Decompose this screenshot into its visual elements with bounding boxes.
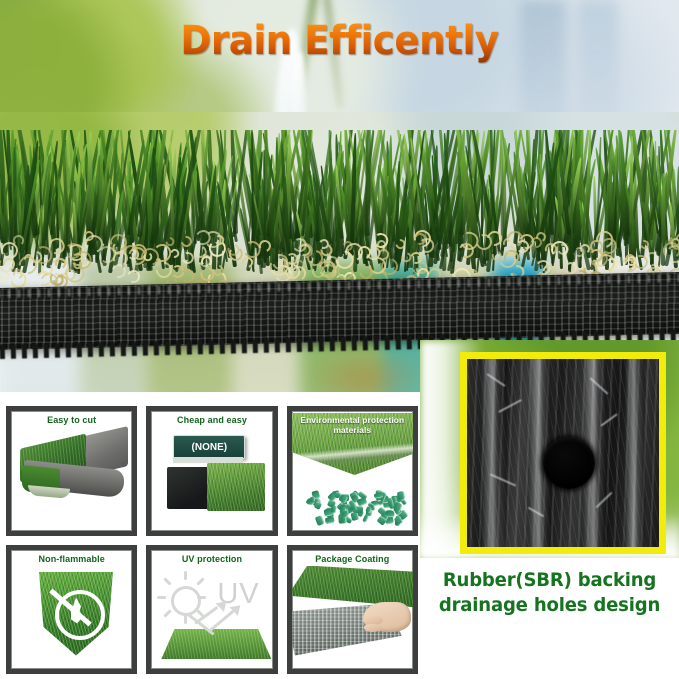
feature-panel-non-flammable: Non-flammable <box>6 545 137 675</box>
none-sign-label: (NONE) <box>174 436 244 458</box>
turf-roll-icon <box>20 437 128 499</box>
green-turf-swatch <box>207 463 265 511</box>
product-infographic: Drain Efficently Easy to cut <box>0 0 679 679</box>
turf-mat-icon <box>161 629 271 659</box>
feature-panel-grid: Easy to cut Cheap and easy (NONE) Enviro… <box>6 406 418 674</box>
feature-panel-uv-protection: UV protection UV <box>146 545 277 675</box>
feature-panel-package-coating: Package Coating <box>287 545 418 675</box>
feature-panel-cheap-and-easy: Cheap and easy (NONE) <box>146 406 277 536</box>
rubber-backing-photo-frame <box>460 352 666 554</box>
feature-label: Environmental protection materials <box>292 415 413 435</box>
rubber-caption-line-1: Rubber(SBR) backing <box>426 568 672 593</box>
feature-panel-environmental-materials: Environmental protection materials <box>287 406 418 536</box>
rubber-ridge <box>625 353 645 554</box>
feature-panel-easy-to-cut: Easy to cut <box>6 406 137 536</box>
feature-label: Package Coating <box>292 554 413 564</box>
drainage-hole-icon <box>543 437 595 489</box>
none-sign-icon: (NONE) <box>173 435 245 459</box>
rubber-caption-line-2: drainage holes design <box>426 593 672 618</box>
plastic-pellets-icon <box>306 491 406 525</box>
feature-label: Non-flammable <box>11 554 132 564</box>
rubber-caption: Rubber(SBR) backing drainage holes desig… <box>426 568 672 618</box>
page-title: Drain Efficently <box>24 18 655 64</box>
feature-label: Cheap and easy <box>151 415 272 425</box>
finger-icon <box>364 624 381 632</box>
feature-label: UV protection <box>151 554 272 564</box>
feature-label: Easy to cut <box>11 415 132 425</box>
